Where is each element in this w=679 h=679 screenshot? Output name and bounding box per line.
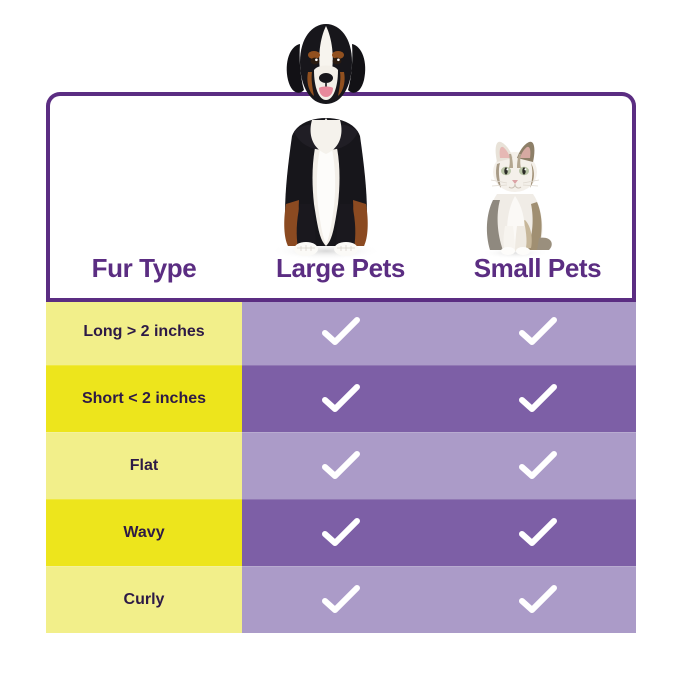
small-pets-cell	[439, 298, 636, 365]
small-pets-cell	[439, 365, 636, 432]
large-pets-cell	[242, 566, 439, 633]
fur-type-label: Short < 2 inches	[46, 365, 242, 432]
checkmark-icon	[321, 315, 361, 349]
table-header-row: Fur Type Large Pets Small Pets	[46, 242, 636, 294]
small-pets-cell	[439, 432, 636, 499]
checkmark-icon	[518, 449, 558, 483]
fur-type-label: Curly	[46, 566, 242, 633]
checkmark-icon	[518, 516, 558, 550]
fur-type-label: Flat	[46, 432, 242, 499]
table-row: Curly	[46, 566, 636, 633]
checkmark-icon	[518, 382, 558, 416]
column-header-small-pets: Small Pets	[439, 242, 636, 294]
table-row: Flat	[46, 432, 636, 499]
large-pets-cell	[242, 298, 439, 365]
fur-type-label: Long > 2 inches	[46, 298, 242, 365]
fur-type-label: Wavy	[46, 499, 242, 566]
large-pets-cell	[242, 365, 439, 432]
checkmark-icon	[321, 382, 361, 416]
checkmark-icon	[321, 449, 361, 483]
checkmark-icon	[321, 516, 361, 550]
checkmark-icon	[518, 315, 558, 349]
column-header-large-pets: Large Pets	[242, 242, 439, 294]
large-pets-cell	[242, 499, 439, 566]
checkmark-icon	[321, 583, 361, 617]
comparison-chart: Fur Type Large Pets Small Pets Long > 2 …	[0, 0, 679, 679]
fur-type-comparison-table: Fur Type Large Pets Small Pets Long > 2 …	[46, 92, 636, 638]
checkmark-icon	[518, 583, 558, 617]
small-pets-cell	[439, 499, 636, 566]
table-row: Wavy	[46, 499, 636, 566]
small-pets-cell	[439, 566, 636, 633]
large-pets-cell	[242, 432, 439, 499]
table-row: Long > 2 inches	[46, 298, 636, 365]
table-body: Long > 2 inches Short < 2 inches	[46, 298, 636, 633]
column-header-fur-type: Fur Type	[46, 242, 242, 294]
table-row: Short < 2 inches	[46, 365, 636, 432]
